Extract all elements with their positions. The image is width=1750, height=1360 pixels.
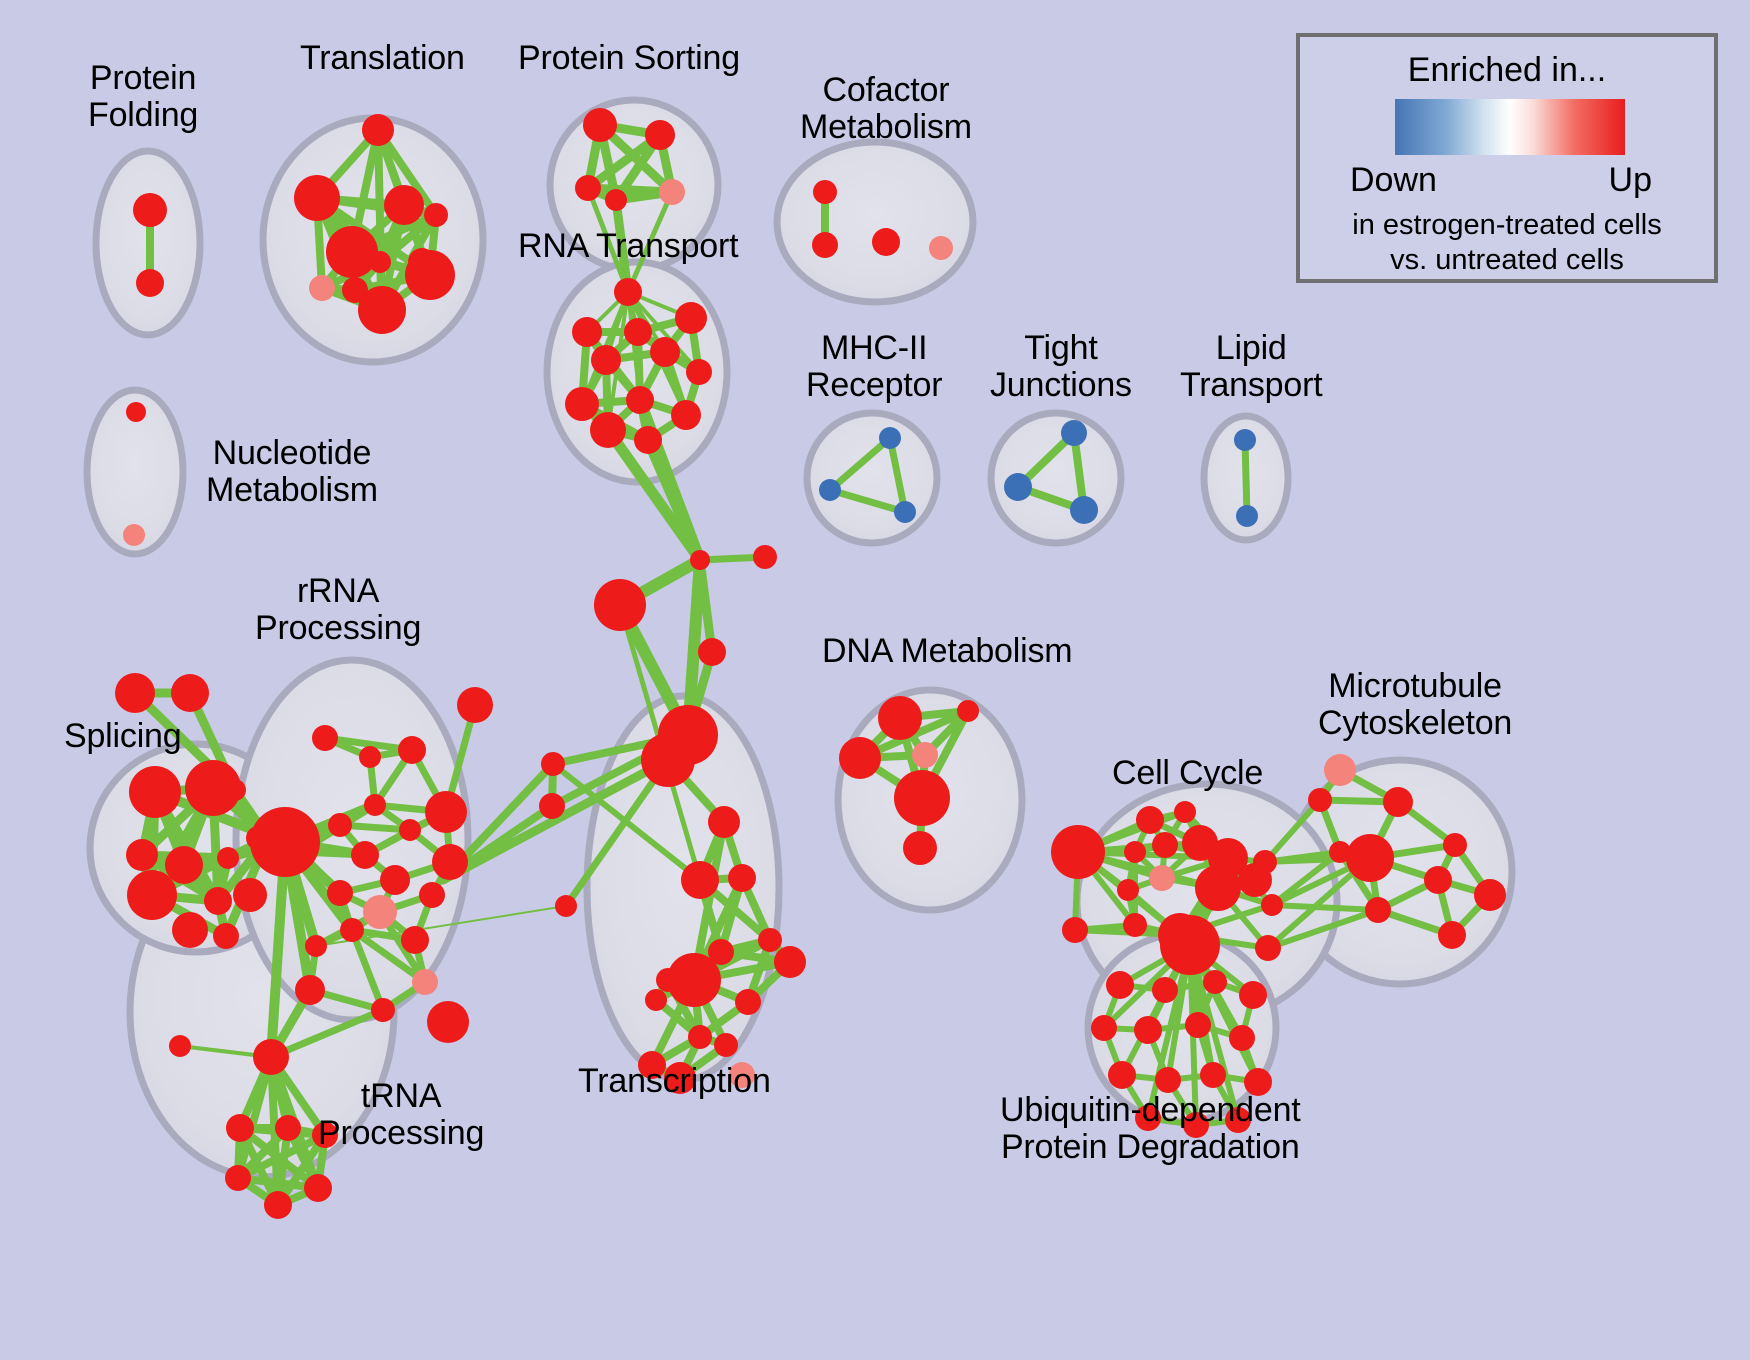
node xyxy=(1234,429,1256,451)
node xyxy=(539,793,565,819)
node xyxy=(594,579,646,631)
node xyxy=(903,831,937,865)
node xyxy=(412,969,438,995)
node xyxy=(401,926,429,954)
legend-down-label: Down xyxy=(1350,161,1437,200)
legend-up-label: Up xyxy=(1609,161,1652,200)
node xyxy=(1117,879,1139,901)
node xyxy=(591,345,621,375)
node xyxy=(1155,1067,1181,1093)
node xyxy=(217,847,239,869)
node xyxy=(185,760,241,816)
node xyxy=(1261,894,1283,916)
node xyxy=(427,1001,469,1043)
node xyxy=(688,1025,712,1049)
node xyxy=(1185,1012,1211,1038)
cluster-blob-protein-sorting xyxy=(550,100,718,270)
node xyxy=(645,989,667,1011)
node xyxy=(686,359,712,385)
node xyxy=(690,550,710,570)
node xyxy=(656,968,680,992)
node xyxy=(126,402,146,422)
node xyxy=(312,725,338,751)
legend-subtitle-line1: in estrogen-treated cells xyxy=(1300,209,1714,242)
node xyxy=(1239,981,1267,1009)
node xyxy=(275,1115,301,1141)
node xyxy=(929,236,953,260)
node xyxy=(123,524,145,546)
node xyxy=(1123,913,1147,937)
node xyxy=(698,638,726,666)
node xyxy=(1474,879,1506,911)
node xyxy=(171,674,209,712)
node xyxy=(1160,915,1220,975)
node xyxy=(1195,865,1241,911)
node xyxy=(641,733,695,787)
node xyxy=(1062,917,1088,943)
node xyxy=(384,185,424,225)
node xyxy=(1152,832,1178,858)
node xyxy=(1070,496,1098,524)
enrichment-map-figure: Protein Folding Translation Protein Sort… xyxy=(0,0,1750,1360)
node xyxy=(1200,1062,1226,1088)
node xyxy=(129,766,181,818)
node xyxy=(1438,921,1466,949)
node xyxy=(565,387,599,421)
node xyxy=(957,700,979,722)
node xyxy=(753,545,777,569)
node xyxy=(363,895,397,929)
node xyxy=(1238,863,1272,897)
node xyxy=(645,120,675,150)
node xyxy=(839,737,881,779)
node xyxy=(351,841,379,869)
node xyxy=(369,251,391,273)
node xyxy=(1091,1015,1117,1041)
node xyxy=(359,746,381,768)
node xyxy=(1324,754,1356,786)
node xyxy=(1108,1061,1136,1089)
node xyxy=(1124,841,1146,863)
node xyxy=(213,923,239,949)
node xyxy=(133,193,167,227)
node xyxy=(424,203,448,227)
node xyxy=(1149,865,1175,891)
node xyxy=(1174,801,1196,823)
node xyxy=(364,794,386,816)
node xyxy=(714,1033,738,1057)
node xyxy=(575,175,601,201)
legend-box: Enriched in... Down Up in estrogen-treat… xyxy=(1296,33,1718,283)
node xyxy=(1255,935,1281,961)
node xyxy=(728,864,756,892)
node xyxy=(1229,1025,1255,1051)
node xyxy=(358,286,406,334)
node xyxy=(432,844,468,880)
node xyxy=(626,386,654,414)
node xyxy=(371,998,395,1022)
node xyxy=(1346,834,1394,882)
node xyxy=(1134,1016,1162,1044)
node xyxy=(1106,971,1134,999)
node xyxy=(398,736,426,764)
node xyxy=(405,250,455,300)
node xyxy=(638,1051,666,1079)
node xyxy=(614,278,642,306)
node xyxy=(1004,473,1032,501)
node xyxy=(233,878,267,912)
node xyxy=(634,426,662,454)
node xyxy=(541,752,565,776)
node xyxy=(894,770,950,826)
node xyxy=(362,114,394,146)
node xyxy=(457,687,493,723)
node xyxy=(204,887,232,915)
node xyxy=(419,882,445,908)
node xyxy=(572,317,602,347)
node xyxy=(624,318,652,346)
node xyxy=(1424,866,1452,894)
node xyxy=(1203,970,1227,994)
node xyxy=(1308,788,1332,812)
node xyxy=(681,861,719,899)
node xyxy=(127,870,177,920)
node xyxy=(605,189,627,211)
node xyxy=(894,501,916,523)
node xyxy=(312,1122,338,1148)
node xyxy=(250,807,320,877)
node xyxy=(1236,505,1258,527)
node xyxy=(328,813,352,837)
node xyxy=(1244,1068,1272,1096)
node xyxy=(294,175,340,221)
node xyxy=(812,232,838,258)
node xyxy=(136,269,164,297)
legend-subtitle-line2: vs. untreated cells xyxy=(1300,244,1714,277)
node xyxy=(659,179,685,205)
cluster-blob-mhc-ii-receptor xyxy=(807,413,937,543)
node xyxy=(326,226,378,278)
node xyxy=(1136,806,1164,834)
node xyxy=(309,275,335,301)
node xyxy=(671,400,701,430)
node xyxy=(172,912,208,948)
node xyxy=(340,918,364,942)
node xyxy=(590,412,626,448)
node xyxy=(729,1062,755,1088)
node xyxy=(1152,977,1178,1003)
node xyxy=(165,846,203,884)
node xyxy=(126,839,158,871)
node xyxy=(1383,787,1413,817)
node xyxy=(1051,825,1105,879)
node xyxy=(675,302,707,334)
node xyxy=(295,975,325,1005)
node xyxy=(115,673,155,713)
node xyxy=(399,819,421,841)
node xyxy=(1183,1112,1209,1138)
cluster-blob-cofactor-metabolism xyxy=(777,142,973,302)
node xyxy=(819,479,841,501)
node xyxy=(304,1174,332,1202)
node xyxy=(879,427,901,449)
node xyxy=(425,791,467,833)
node xyxy=(758,928,782,952)
legend-title: Enriched in... xyxy=(1300,51,1714,90)
node xyxy=(1225,1107,1251,1133)
node xyxy=(774,946,806,978)
node xyxy=(650,337,680,367)
node xyxy=(264,1191,292,1219)
node xyxy=(912,742,938,768)
node xyxy=(583,108,617,142)
node xyxy=(555,895,577,917)
node xyxy=(878,696,922,740)
node xyxy=(735,989,761,1015)
node xyxy=(1365,897,1391,923)
legend-color-gradient-bar xyxy=(1395,99,1625,155)
node xyxy=(253,1039,289,1075)
node xyxy=(225,1165,251,1191)
node xyxy=(872,228,900,256)
node xyxy=(1135,1105,1161,1131)
node xyxy=(327,880,353,906)
node xyxy=(380,865,410,895)
node xyxy=(1443,833,1467,857)
node xyxy=(813,180,837,204)
node xyxy=(226,1114,254,1142)
node xyxy=(305,935,327,957)
node xyxy=(1061,420,1087,446)
node xyxy=(664,1062,696,1094)
node xyxy=(708,806,740,838)
node xyxy=(169,1035,191,1057)
